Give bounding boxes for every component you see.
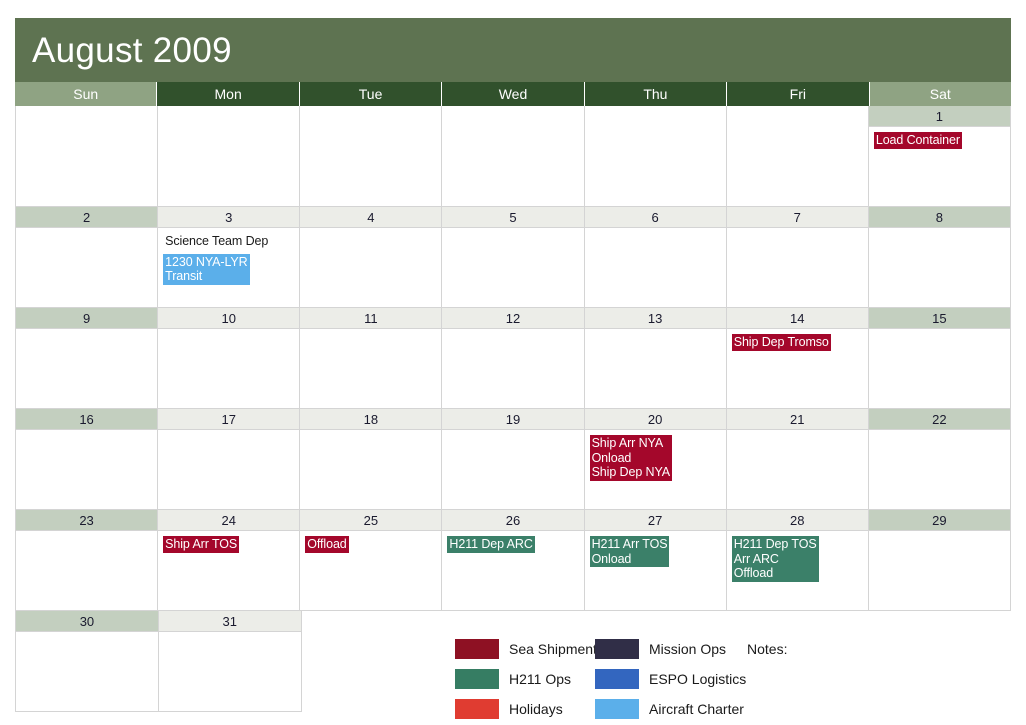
date-number: 23: [16, 510, 157, 531]
calendar-week-row: 23Science Team Dep1230 NYA-LYR Transit45…: [15, 207, 1011, 308]
weekday-header-tue: Tue: [300, 82, 442, 106]
day-cell-empty[interactable]: [585, 106, 727, 207]
date-number: 27: [585, 510, 726, 531]
day-events: [16, 127, 157, 206]
day-cell-empty[interactable]: [442, 106, 584, 207]
day-events: [300, 430, 441, 509]
date-number: 26: [442, 510, 583, 531]
date-number: 29: [869, 510, 1010, 531]
day-cell-4[interactable]: 4: [300, 207, 442, 308]
day-cell-28[interactable]: 28H211 Dep TOS Arr ARC Offload: [727, 510, 869, 611]
day-cell-22[interactable]: 22: [869, 409, 1011, 510]
legend-label-h211_ops: H211 Ops: [509, 671, 571, 687]
legend-swatch-sea_shipment: [455, 639, 499, 659]
day-events: [158, 329, 299, 408]
date-number: 13: [585, 308, 726, 329]
day-events: [158, 127, 299, 206]
date-number: 8: [869, 207, 1010, 228]
calendar: August 2009 SunMonTueWedThuFriSat 1Load …: [15, 18, 1011, 712]
legend-label-holidays: Holidays: [509, 701, 563, 717]
day-cell-30[interactable]: 30: [16, 611, 159, 712]
day-events: [585, 127, 726, 206]
date-number: 2: [16, 207, 157, 228]
date-number: 12: [442, 308, 583, 329]
notes-label: Notes:: [747, 638, 787, 657]
day-cell-21[interactable]: 21: [727, 409, 869, 510]
legend-item-h211_ops: H211 Ops: [455, 668, 595, 690]
date-number: 28: [727, 510, 868, 531]
day-cell-31[interactable]: 31: [159, 611, 302, 712]
date-number: 31: [159, 611, 301, 632]
day-cell-empty[interactable]: [158, 106, 300, 207]
day-cell-14[interactable]: 14Ship Dep Tromso: [727, 308, 869, 409]
day-cell-20[interactable]: 20Ship Arr NYA Onload Ship Dep NYA: [585, 409, 727, 510]
legend-label-aircraft_charter: Aircraft Charter: [649, 701, 744, 717]
legend-label-espo_logistics: ESPO Logistics: [649, 671, 746, 687]
weekday-header-row: SunMonTueWedThuFriSat: [15, 82, 1011, 106]
day-events: [869, 531, 1010, 610]
day-events: [727, 127, 868, 206]
day-events: Load Container: [869, 127, 1010, 206]
weekday-header-sun: Sun: [15, 82, 157, 106]
date-number: 14: [727, 308, 868, 329]
day-cell-empty[interactable]: [300, 106, 442, 207]
date-number: 9: [16, 308, 157, 329]
date-number: 24: [158, 510, 299, 531]
day-events: [16, 430, 157, 509]
date-number: 30: [16, 611, 158, 632]
date-number: 19: [442, 409, 583, 430]
day-events: H211 Dep ARC: [442, 531, 583, 610]
day-cell-29[interactable]: 29: [869, 510, 1011, 611]
day-events: [869, 329, 1010, 408]
day-events: [16, 632, 158, 711]
day-cell-25[interactable]: 25Offload: [300, 510, 442, 611]
day-cell-6[interactable]: 6: [585, 207, 727, 308]
date-number: 15: [869, 308, 1010, 329]
day-cell-19[interactable]: 19: [442, 409, 584, 510]
event-sea_shipment[interactable]: Ship Arr NYA Onload Ship Dep NYA: [590, 435, 672, 481]
day-events: [585, 228, 726, 307]
legend-label-sea_shipment: Sea Shipment: [509, 641, 597, 657]
page-title: August 2009: [32, 33, 232, 68]
day-cell-17[interactable]: 17: [158, 409, 300, 510]
day-cell-5[interactable]: 5: [442, 207, 584, 308]
day-events: Ship Dep Tromso: [727, 329, 868, 408]
event-h211_ops[interactable]: H211 Dep TOS Arr ARC Offload: [732, 536, 819, 582]
day-cell-empty: [302, 611, 444, 712]
day-events: [869, 228, 1010, 307]
day-events: [869, 430, 1010, 509]
day-events: [442, 430, 583, 509]
legend-item-holidays: Holidays: [455, 698, 595, 720]
event-sea_shipment[interactable]: Ship Arr TOS: [163, 536, 239, 553]
event-sea_shipment[interactable]: Offload: [305, 536, 348, 553]
weekday-header-thu: Thu: [585, 82, 727, 106]
day-cell-24[interactable]: 24Ship Arr TOS: [158, 510, 300, 611]
date-number: 6: [585, 207, 726, 228]
day-cell-23[interactable]: 23: [16, 510, 158, 611]
day-cell-empty: [869, 611, 1011, 712]
legend-item-sea_shipment: Sea Shipment: [455, 638, 595, 660]
day-events: [16, 329, 157, 408]
legend: Sea ShipmentH211 OpsHolidays Mission Ops…: [455, 638, 787, 720]
day-events: [158, 430, 299, 509]
legend-swatch-mission_ops: [595, 639, 639, 659]
legend-item-aircraft_charter: Aircraft Charter: [595, 698, 735, 720]
day-events: [727, 430, 868, 509]
day-events: [442, 228, 583, 307]
legend-swatch-espo_logistics: [595, 669, 639, 689]
weekday-header-mon: Mon: [157, 82, 299, 106]
calendar-week-row: 2324Ship Arr TOS25Offload26H211 Dep ARC2…: [15, 510, 1011, 611]
calendar-grid: 1Load Container23Science Team Dep1230 NY…: [15, 106, 1011, 712]
event-sea_shipment[interactable]: Load Container: [874, 132, 962, 149]
legend-swatch-aircraft_charter: [595, 699, 639, 719]
date-number: 1: [869, 106, 1010, 127]
day-events: Ship Arr TOS: [158, 531, 299, 610]
legend-column-1: Sea ShipmentH211 OpsHolidays: [455, 638, 595, 720]
day-cell-11[interactable]: 11: [300, 308, 442, 409]
date-number: 16: [16, 409, 157, 430]
date-number: 20: [585, 409, 726, 430]
date-number: 5: [442, 207, 583, 228]
day-cell-13[interactable]: 13: [585, 308, 727, 409]
weekday-header-wed: Wed: [442, 82, 584, 106]
legend-item-mission_ops: Mission Ops: [595, 638, 735, 660]
legend-swatch-holidays: [455, 699, 499, 719]
day-events: H211 Arr TOS Onload: [585, 531, 726, 610]
date-number: 3: [158, 207, 299, 228]
day-events: [159, 632, 301, 711]
day-cell-27[interactable]: 27H211 Arr TOS Onload: [585, 510, 727, 611]
day-events: Ship Arr NYA Onload Ship Dep NYA: [585, 430, 726, 509]
day-cell-empty[interactable]: [16, 106, 158, 207]
day-cell-8[interactable]: 8: [869, 207, 1011, 308]
day-cell-12[interactable]: 12: [442, 308, 584, 409]
day-events: [16, 228, 157, 307]
date-number: 18: [300, 409, 441, 430]
date-number: 25: [300, 510, 441, 531]
day-cell-empty[interactable]: [727, 106, 869, 207]
date-number: 17: [158, 409, 299, 430]
day-cell-9[interactable]: 9: [16, 308, 158, 409]
calendar-title-bar: August 2009: [15, 18, 1011, 82]
day-cell-26[interactable]: 26H211 Dep ARC: [442, 510, 584, 611]
event-aircraft_charter[interactable]: 1230 NYA-LYR Transit: [163, 254, 249, 285]
calendar-week-row: 1Load Container: [15, 106, 1011, 207]
day-cell-3[interactable]: 3Science Team Dep1230 NYA-LYR Transit: [158, 207, 300, 308]
weekday-header-fri: Fri: [727, 82, 869, 106]
day-events: [16, 531, 157, 610]
day-events: [300, 127, 441, 206]
day-cell-2[interactable]: 2: [16, 207, 158, 308]
day-cell-10[interactable]: 10: [158, 308, 300, 409]
day-events: H211 Dep TOS Arr ARC Offload: [727, 531, 868, 610]
day-cell-7[interactable]: 7: [727, 207, 869, 308]
day-cell-18[interactable]: 18: [300, 409, 442, 510]
legend-item-espo_logistics: ESPO Logistics: [595, 668, 735, 690]
calendar-week-row: 1617181920Ship Arr NYA Onload Ship Dep N…: [15, 409, 1011, 510]
day-events: Science Team Dep1230 NYA-LYR Transit: [158, 228, 299, 307]
day-events: [442, 127, 583, 206]
weekday-header-sat: Sat: [870, 82, 1011, 106]
day-events: [300, 228, 441, 307]
date-number: 11: [300, 308, 441, 329]
day-cell-16[interactable]: 16: [16, 409, 158, 510]
day-events: Offload: [300, 531, 441, 610]
legend-swatch-h211_ops: [455, 669, 499, 689]
date-number: 4: [300, 207, 441, 228]
event-sea_shipment[interactable]: Ship Dep Tromso: [732, 334, 831, 351]
date-number: 10: [158, 308, 299, 329]
day-events: [727, 228, 868, 307]
date-number: 22: [869, 409, 1010, 430]
day-cell-15[interactable]: 15: [869, 308, 1011, 409]
legend-column-2: Mission OpsESPO LogisticsAircraft Charte…: [595, 638, 735, 720]
calendar-week-row: 91011121314Ship Dep Tromso15: [15, 308, 1011, 409]
day-events: [585, 329, 726, 408]
event-h211_ops[interactable]: H211 Dep ARC: [447, 536, 534, 553]
date-number: 7: [727, 207, 868, 228]
event-h211_ops[interactable]: H211 Arr TOS Onload: [590, 536, 670, 567]
day-events: [300, 329, 441, 408]
event-plain[interactable]: Science Team Dep: [163, 233, 270, 250]
legend-label-mission_ops: Mission Ops: [649, 641, 726, 657]
day-events: [442, 329, 583, 408]
date-number: 21: [727, 409, 868, 430]
day-cell-1[interactable]: 1Load Container: [869, 106, 1011, 207]
